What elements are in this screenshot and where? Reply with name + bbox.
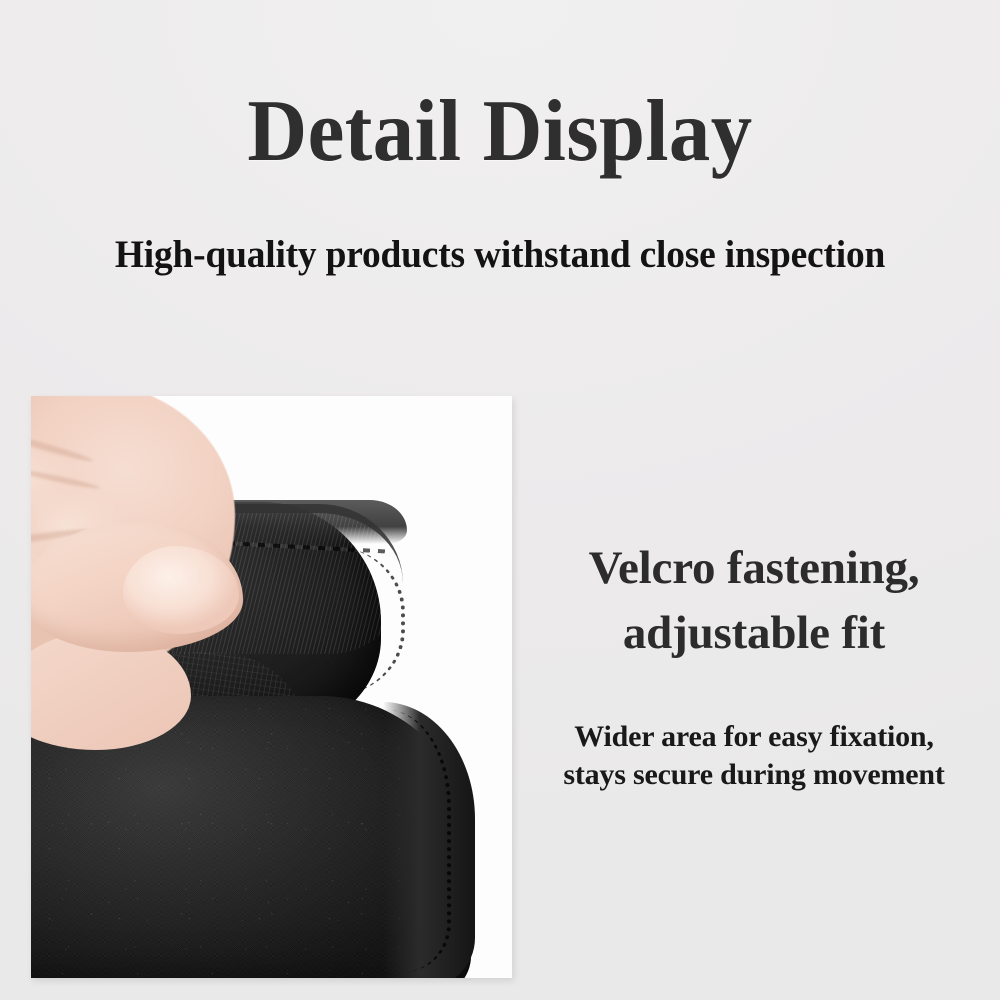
feature-description: Wider area for easy fixation, stays secu… [522, 718, 986, 795]
feature-headline: Velcro fastening, adjustable fit [528, 536, 980, 666]
feature-description-line-1: Wider area for easy fixation, [522, 718, 986, 756]
page-subtitle: High-quality products withstand close in… [20, 232, 980, 277]
product-photo-canvas [31, 396, 512, 978]
header: Detail Display [0, 88, 1000, 176]
feature-description-line-2: stays secure during movement [522, 756, 986, 794]
feature-headline-line-1: Velcro fastening, [528, 536, 980, 601]
product-detail-page: Detail Display High-quality products wit… [0, 0, 1000, 1000]
product-photo [31, 396, 512, 978]
page-title: Detail Display [30, 88, 970, 176]
feature-headline-line-2: adjustable fit [528, 601, 980, 666]
